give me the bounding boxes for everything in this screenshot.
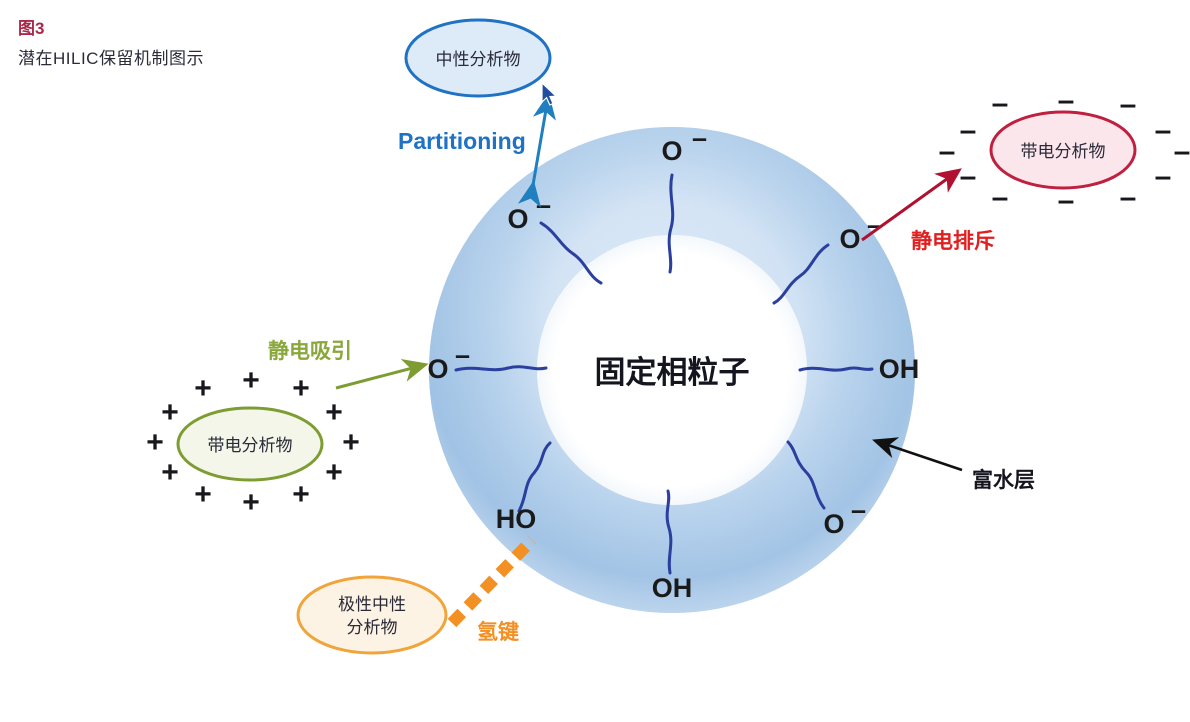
plus-sign: + xyxy=(292,478,310,511)
minus-sign: – xyxy=(960,160,977,193)
neutral-analyte-label: 中性分析物 xyxy=(436,50,521,69)
charged-analyte-label-right: 带电分析物 xyxy=(1021,142,1106,161)
group-lower-right-charge: – xyxy=(851,495,866,525)
minus-sign: – xyxy=(992,181,1009,214)
minus-sign: – xyxy=(960,114,977,147)
hydrogen-bond-label: 氢键 xyxy=(477,620,519,644)
plus-sign: + xyxy=(146,426,164,459)
plus-sign: + xyxy=(292,372,310,405)
polar-neutral-analyte-label-line1: 极性中性 xyxy=(338,595,406,614)
group-lower-right-label: O xyxy=(823,509,844,539)
group-upper-left-charge: – xyxy=(536,190,551,220)
plus-sign: + xyxy=(325,456,343,489)
minus-sign: – xyxy=(1120,88,1137,121)
plus-sign: + xyxy=(242,486,260,519)
plus-sign: + xyxy=(161,456,179,489)
mechanism-electrostatic-attraction[interactable]: + + + + + + + + + + + + 带电分析物 静电吸引 xyxy=(146,339,424,519)
group-upper-left-label: O xyxy=(507,204,528,234)
attraction-arrow xyxy=(336,365,424,388)
polar-neutral-analyte-bubble[interactable] xyxy=(298,577,446,653)
mechanism-hydrogen-bond[interactable]: 极性中性 分析物 氢键 xyxy=(298,540,532,653)
minus-sign: – xyxy=(1155,160,1172,193)
plus-sign: + xyxy=(194,372,212,405)
group-bottom-label: OH xyxy=(652,573,693,603)
group-top-charge: – xyxy=(692,123,707,153)
partitioning-label: Partitioning xyxy=(398,128,526,154)
minus-sign: – xyxy=(1120,181,1137,214)
charged-analyte-label-left: 带电分析物 xyxy=(208,436,293,455)
hilic-mechanism-diagram: 固定相粒子 O – O – O – xyxy=(0,0,1190,722)
group-left-charge: – xyxy=(455,340,470,370)
group-top-label: O xyxy=(661,136,682,166)
group-left-label: O xyxy=(427,354,448,384)
plus-sign: + xyxy=(194,478,212,511)
minus-sign: – xyxy=(1174,135,1190,168)
hydrogen-bond-dashes xyxy=(452,540,532,623)
water-layer-label: 富水层 xyxy=(972,468,1035,492)
plus-sign: + xyxy=(242,364,260,397)
figure-canvas: 图3 潜在HILIC保留机制图示 xyxy=(0,0,1190,722)
group-right-label: OH xyxy=(879,354,920,384)
annotation-water-layer: 富水层 xyxy=(876,441,1035,492)
repulsion-label: 静电排斥 xyxy=(911,229,995,253)
group-upper-right-label: O xyxy=(839,224,860,254)
minus-sign: – xyxy=(992,87,1009,120)
particle-center-label: 固定相粒子 xyxy=(595,355,750,390)
polar-neutral-analyte-label-line2: 分析物 xyxy=(347,618,398,637)
mechanism-partitioning[interactable]: 中性分析物 Partitioning xyxy=(398,20,550,185)
minus-sign: – xyxy=(939,135,956,168)
plus-sign: + xyxy=(325,396,343,429)
minus-sign: – xyxy=(1155,114,1172,147)
mechanism-electrostatic-repulsion[interactable]: – – – – – – – – – – – – 带电分析物 静电排斥 xyxy=(862,84,1190,253)
plus-sign: + xyxy=(161,396,179,429)
plus-sign: + xyxy=(342,426,360,459)
group-lower-left-label: HO xyxy=(496,504,537,534)
attraction-label: 静电吸引 xyxy=(268,339,352,363)
